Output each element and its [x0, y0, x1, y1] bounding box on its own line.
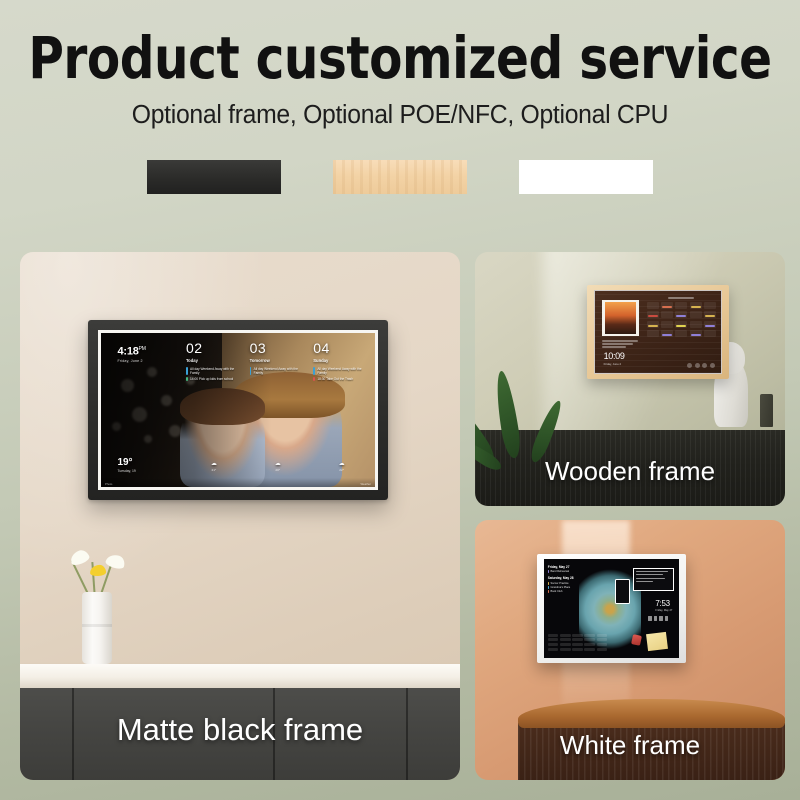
- frame-color-swatches: [0, 160, 800, 194]
- calendar-day-label: Sunday: [313, 358, 369, 363]
- clock-time: 7:53: [655, 600, 672, 608]
- calendar-day-number: 02: [186, 341, 242, 355]
- clock-suffix: PM: [139, 346, 146, 352]
- calendar-column[interactable]: 04 Sunday All day Weekend Away with the …: [313, 341, 369, 382]
- page-indicator-dots[interactable]: [687, 363, 715, 368]
- calendar-event[interactable]: All day Weekend Away with the Family: [313, 367, 369, 375]
- forecast-temp: 21°: [191, 468, 236, 472]
- clock-date: Friday, May 27: [655, 609, 672, 612]
- mini-calendar-grid[interactable]: [548, 634, 608, 652]
- calendar-event[interactable]: All day Weekend Away with the Family: [186, 367, 242, 375]
- caption-white: White frame: [475, 714, 785, 776]
- clock-date: Friday, June 2: [117, 359, 145, 363]
- smart-frame-display-black[interactable]: 4:18PM Friday, June 2 02 Today All: [88, 320, 388, 500]
- panel-white[interactable]: Friday, May 27 Band Rehearsal Saturday, …: [475, 520, 785, 780]
- calendar-event[interactable]: 18:30 Take Out the Trash: [313, 377, 369, 381]
- footer-right-label: Weather: [360, 482, 371, 486]
- clock-widget: 7:53 Friday, May 27: [655, 600, 672, 612]
- agenda-item-text: Band Rehearsal: [550, 570, 569, 573]
- agenda-item[interactable]: Soccer Practice: [548, 582, 581, 585]
- agenda-item-text: Grandma's Place: [550, 586, 570, 589]
- calendar-event-text: All day Weekend Away with the Family: [317, 367, 369, 375]
- photo-thumbnail: [602, 300, 639, 336]
- calendar-event[interactable]: All day Weekend Away with the Family: [250, 367, 306, 375]
- smart-frame-display-wooden[interactable]: 10:09 Friday, June 2: [587, 285, 730, 379]
- cloud-icon: ☁: [191, 461, 236, 468]
- weather-widget: 19° Tuesday, 19: [117, 458, 135, 473]
- swatch-white[interactable]: [519, 160, 653, 194]
- agenda-date-header: Saturday, May 28: [548, 576, 581, 580]
- caption-matte-black: Matte black frame: [20, 688, 460, 772]
- screen-footer: Photo Weather: [101, 478, 375, 487]
- clock-widget: 4:18PM Friday, June 2: [117, 344, 145, 363]
- agenda-item-text: Book Club: [550, 590, 562, 593]
- clock-date: Friday, June 2: [604, 362, 625, 366]
- agenda-item[interactable]: Grandma's Place: [548, 586, 581, 589]
- calendar-event-text: All day Weekend Away with the Family: [190, 367, 242, 375]
- display-mat: 4:18PM Friday, June 2 02 Today All: [98, 330, 378, 490]
- calendar-day-number: 03: [250, 341, 306, 355]
- calendar-day-label: Tomorrow: [250, 358, 306, 363]
- page-subtitle: Optional frame, Optional POE/NFC, Option…: [12, 101, 788, 130]
- forecast-temp: 22°: [319, 468, 364, 472]
- forecast-cell: ☁ 21°: [191, 461, 236, 472]
- shelf: [20, 664, 460, 688]
- agenda-item[interactable]: Book Club: [548, 590, 581, 593]
- note-card[interactable]: [633, 568, 674, 592]
- calendar-day-number: 04: [313, 341, 369, 355]
- display-screen[interactable]: Friday, May 27 Band Rehearsal Saturday, …: [544, 559, 679, 658]
- weather-location: Tuesday, 19: [117, 469, 135, 473]
- cloud-icon: ☁: [319, 461, 364, 468]
- page-indicator-dots[interactable]: [648, 616, 668, 621]
- clock-time: 10:09: [604, 352, 625, 361]
- footer-left-label: Photo: [105, 482, 112, 486]
- agenda-item-text: Soccer Practice: [550, 582, 568, 585]
- agenda-item[interactable]: Band Rehearsal: [548, 570, 581, 573]
- screen-overlay-ui: 4:18PM Friday, June 2 02 Today All: [101, 333, 375, 487]
- forecast-temp: 20°: [255, 468, 300, 472]
- display-screen[interactable]: 4:18PM Friday, June 2 02 Today All: [101, 333, 375, 487]
- calendar-day-label: Today: [186, 358, 242, 363]
- display-screen[interactable]: 10:09 Friday, June 2: [594, 290, 722, 375]
- decor-bottle: [760, 394, 772, 427]
- calendar-event-text: 18:30 Take Out the Trash: [317, 377, 353, 381]
- month-calendar[interactable]: [647, 297, 717, 355]
- vase-with-lilies: [68, 544, 128, 664]
- clock-widget: 10:09 Friday, June 2: [604, 352, 625, 366]
- forecast-cell: ☁ 22°: [319, 461, 364, 472]
- cloud-icon: ☁: [255, 461, 300, 468]
- page-title: Product customized service: [28, 28, 772, 88]
- phone-mockup: [615, 579, 630, 605]
- calendar-event-text: All day Weekend Away with the Family: [254, 367, 306, 375]
- swatch-matte-black[interactable]: [147, 160, 281, 194]
- agenda-date-header: Friday, May 27: [548, 565, 581, 569]
- page-header: Product customized service Optional fram…: [0, 0, 800, 130]
- sticky-note[interactable]: [646, 632, 668, 651]
- calendar-event[interactable]: 14:00 Pick up kids from school: [186, 377, 242, 381]
- weather-forecast-row: ☁ 21° ☁ 20° ☁ 22°: [191, 461, 364, 472]
- calendar-column[interactable]: 03 Tomorrow All day Weekend Away with th…: [250, 341, 306, 382]
- weather-temperature: 19°: [117, 458, 135, 468]
- panel-matte-black[interactable]: 4:18PM Friday, June 2 02 Today All: [20, 252, 460, 780]
- clock-time: 4:18: [117, 345, 138, 357]
- calendar-columns: 02 Today All day Weekend Away with the F…: [186, 341, 370, 382]
- product-panels: 4:18PM Friday, June 2 02 Today All: [20, 252, 785, 780]
- smart-frame-display-white[interactable]: Friday, May 27 Band Rehearsal Saturday, …: [537, 554, 686, 663]
- panel-wooden[interactable]: 10:09 Friday, June 2: [475, 252, 785, 506]
- caption-wooden: Wooden frame: [475, 440, 785, 502]
- photo-caption-lines: [602, 340, 641, 349]
- agenda-list[interactable]: Friday, May 27 Band Rehearsal Saturday, …: [548, 565, 581, 595]
- forecast-cell: ☁ 20°: [255, 461, 300, 472]
- calendar-event-text: 14:00 Pick up kids from school: [190, 377, 233, 381]
- swatch-wooden[interactable]: [333, 160, 467, 194]
- calendar-column[interactable]: 02 Today All day Weekend Away with the F…: [186, 341, 242, 382]
